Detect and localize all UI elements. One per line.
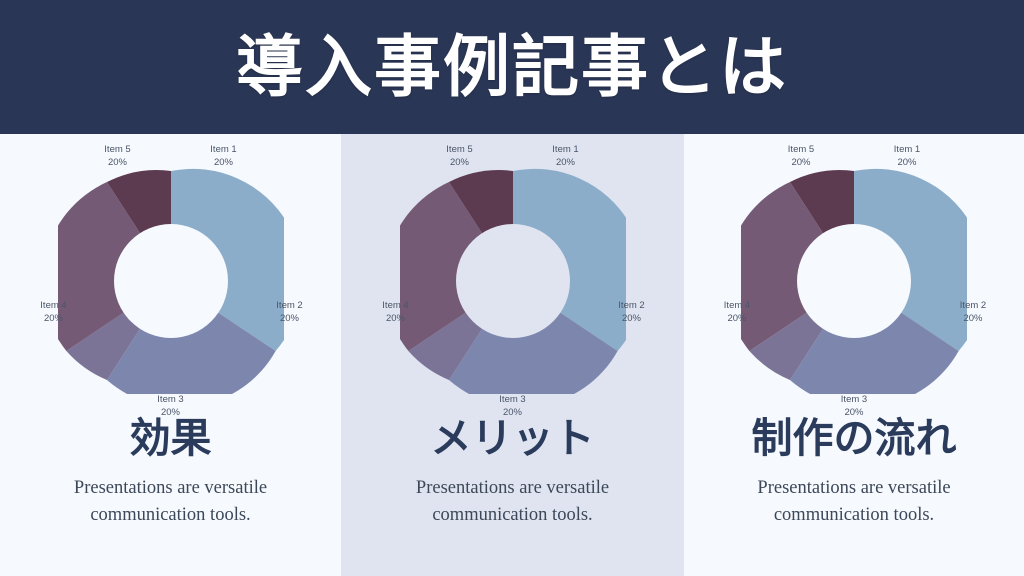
donut-chart-1: Item 5 20% Item 1 20% Item 2 20% Item 3 … [21,140,321,410]
chart3-label-item1: Item 1 20% [872,144,942,169]
chart2-label-item5: Item 5 20% [425,144,495,169]
column-effect: Item 5 20% Item 1 20% Item 2 20% Item 3 … [0,134,341,576]
donut-chart-2-svg [400,168,626,394]
column-production-flow: Item 5 20% Item 1 20% Item 2 20% Item 3 … [684,134,1024,576]
chart1-label-item1-name: Item 1 [210,144,236,155]
chart1-label-item1: Item 1 20% [189,144,259,169]
chart2-label-item5-name: Item 5 [446,144,472,155]
column-effect-heading: 効果 [130,416,212,462]
column-production-flow-body: Presentations are versatile communicatio… [709,475,999,529]
donut-hole-3 [797,224,911,338]
slide-canvas: 導入事例記事とは Item 5 20% [0,0,1024,576]
chart3-label-item3-name: Item 3 [841,394,867,405]
column-production-flow-heading: 制作の流れ [752,416,957,462]
column-merit-body: Presentations are versatile communicatio… [368,475,658,529]
page-title: 導入事例記事とは [236,34,788,101]
column-merit-heading: メリット [431,416,595,462]
chart1-label-item3-name: Item 3 [157,394,183,405]
chart1-label-item5-name: Item 5 [104,144,130,155]
donut-hole-2 [456,224,570,338]
donut-chart-1-svg [58,168,284,394]
donut-chart-3: Item 5 20% Item 1 20% Item 2 20% Item 3 … [704,140,1004,410]
chart2-label-item1-name: Item 1 [552,144,578,155]
chart2-label-item1: Item 1 20% [531,144,601,169]
donut-hole-1 [114,224,228,338]
chart1-label-item5: Item 5 20% [83,144,153,169]
donut-chart-3-svg [741,168,967,394]
column-merit: Item 5 20% Item 1 20% Item 2 20% Item 3 … [341,134,684,576]
chart3-label-item5: Item 5 20% [766,144,836,169]
content-columns: Item 5 20% Item 1 20% Item 2 20% Item 3 … [0,134,1024,576]
chart3-label-item5-name: Item 5 [788,144,814,155]
chart3-label-item1-name: Item 1 [894,144,920,155]
column-effect-body: Presentations are versatile communicatio… [26,475,316,529]
chart2-label-item3-name: Item 3 [499,394,525,405]
donut-chart-2: Item 5 20% Item 1 20% Item 2 20% Item 3 … [363,140,663,410]
slide-header-band: 導入事例記事とは [0,0,1024,134]
